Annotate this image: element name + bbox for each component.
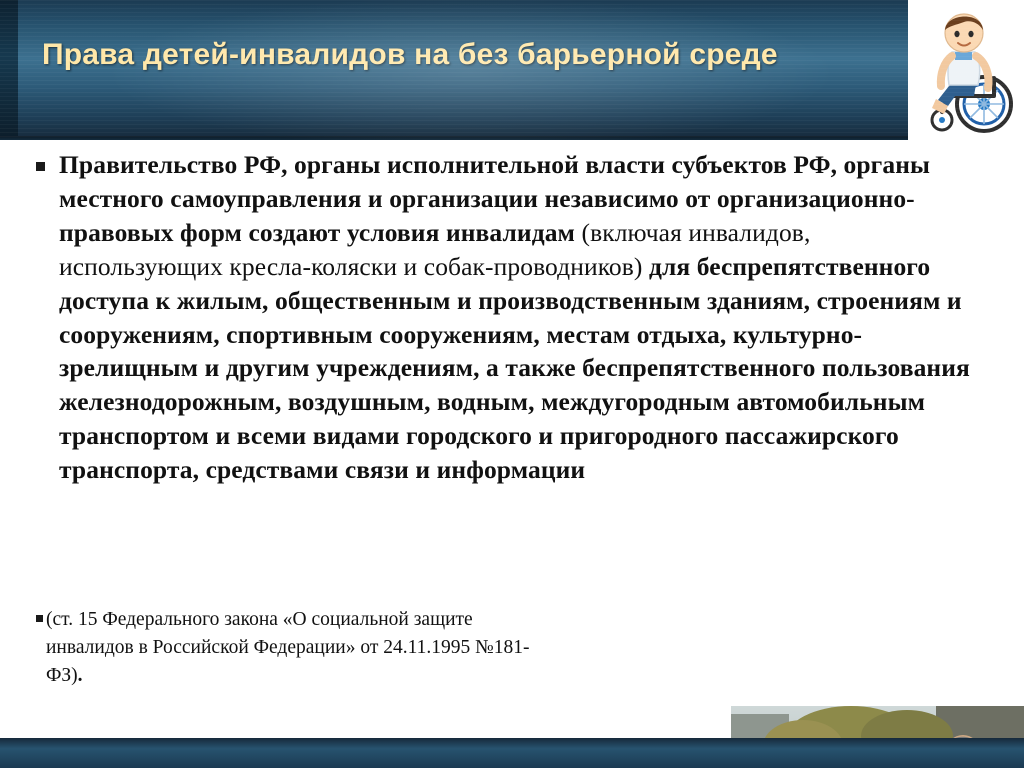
slide-canvas: Права детей-инвалидов на без барьерной с… [0,0,1024,768]
page-title: Права детей-инвалидов на без барьерной с… [42,38,912,72]
illustration-boy-in-wheelchair [908,0,1024,140]
bullet-row: Правительство РФ, органы исполнительной … [36,148,996,487]
slide-header-band: Права детей-инвалидов на без барьерной с… [0,0,1024,140]
square-bullet-icon [36,615,43,622]
citation-block: (ст. 15 Федерального закона «О социально… [36,606,566,690]
citation-text-main: (ст. 15 Федерального закона «О социально… [46,609,529,686]
citation-text: (ст. 15 Федерального закона «О социально… [46,606,556,690]
citation-text-period: . [78,665,83,686]
main-paragraph-block: Правительство РФ, органы исполнительной … [36,148,996,487]
header-left-edge-decoration [0,0,18,140]
main-paragraph-text: Правительство РФ, органы исполнительной … [59,148,979,487]
citation-row: (ст. 15 Федерального закона «О социально… [36,606,566,690]
slide-footer-band [0,738,1024,768]
slide-body: Правительство РФ, органы исполнительной … [0,140,1024,738]
main-paragraph-part-2: для беспрепятственного доступа к жилым, … [59,252,970,484]
square-bullet-icon [36,162,45,171]
